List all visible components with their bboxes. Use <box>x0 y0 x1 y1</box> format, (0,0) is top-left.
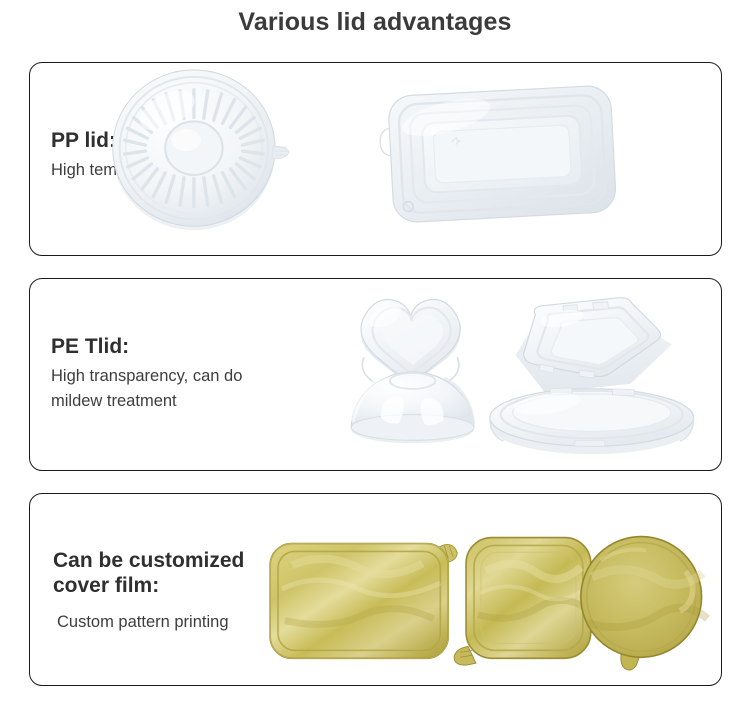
panel-pet-lid-text: PE Tlid: High transparency, can do milde… <box>51 335 242 415</box>
gold-rectangular-foil-lid <box>270 543 457 658</box>
panel-pp-lid-heading: PP lid: <box>51 129 258 154</box>
oval-pet-lid <box>490 388 694 454</box>
panel-pp-lid-text: PP lid: High temperature resistance <box>51 129 258 183</box>
panel-cover-film: Can be customized cover film: Custom pat… <box>29 493 722 686</box>
gold-square-foil-lid <box>454 538 591 666</box>
panel-pet-lid: PE Tlid: High transparency, can do milde… <box>29 278 722 471</box>
square-pet-lid <box>516 298 672 393</box>
panel-cover-film-description: Custom pattern printing <box>53 603 244 636</box>
page-title: Various lid advantages <box>0 8 750 37</box>
panel-cover-film-heading: Can be customized cover film: <box>53 549 244 599</box>
panel-pp-lid: PP lid: High temperature resistance <box>29 62 722 256</box>
infographic-page: Various lid advantages PP lid: High temp… <box>0 0 750 713</box>
panel-pet-lid-description: High transparency, can do mildew treatme… <box>51 364 242 415</box>
panel-pp-lid-description: High temperature resistance <box>51 158 258 184</box>
panel-pet-lid-heading: PE Tlid: <box>51 335 242 360</box>
gold-round-foil-lid <box>581 537 708 671</box>
rectangular-pp-lid <box>378 85 617 224</box>
dome-cup-pet-lid <box>351 372 474 443</box>
panel-cover-film-text: Can be customized cover film: Custom pat… <box>53 549 244 635</box>
heart-shaped-pet-lid <box>361 299 460 402</box>
